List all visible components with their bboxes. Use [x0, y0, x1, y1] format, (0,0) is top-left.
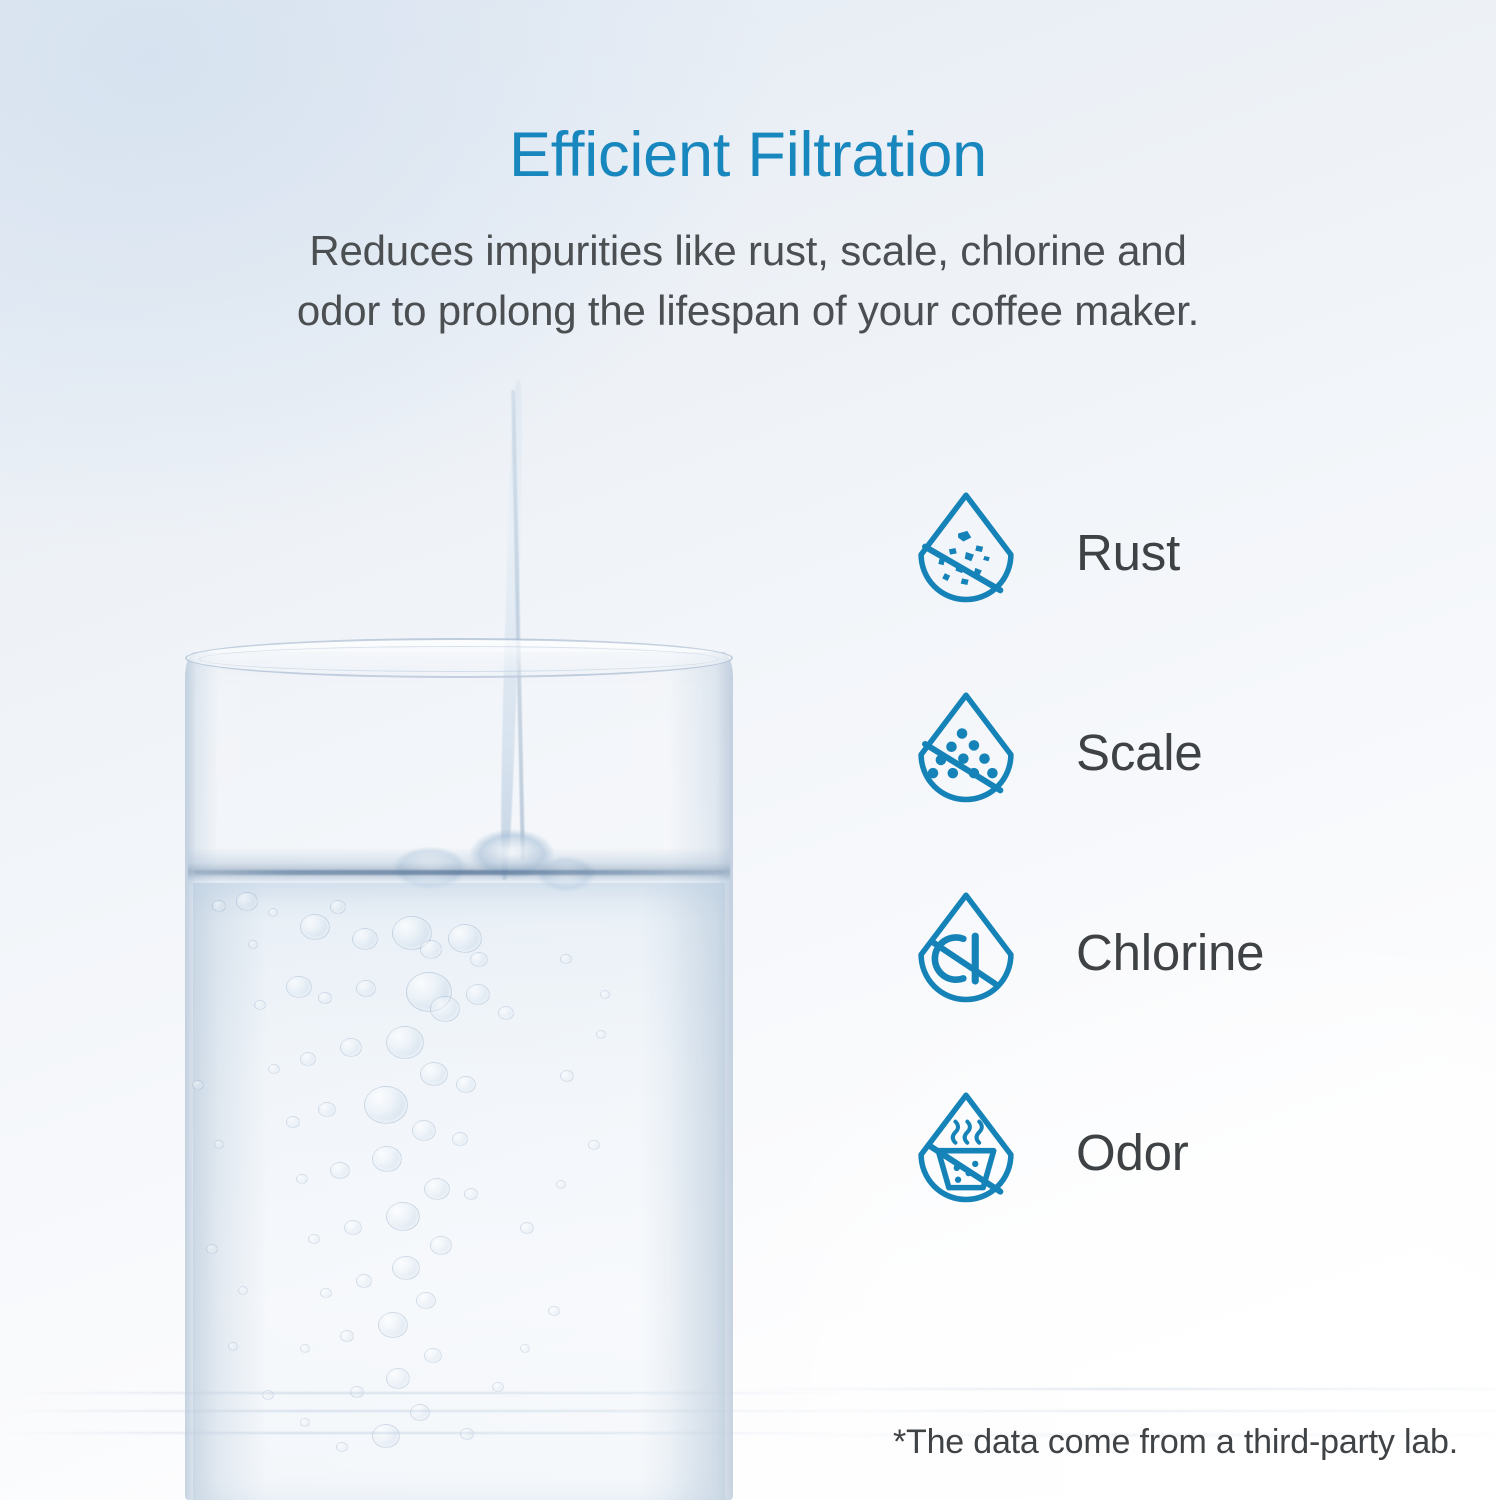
water-bubble [460, 1428, 474, 1440]
water-bubble [556, 1180, 566, 1189]
water-bubble [386, 1026, 424, 1059]
water-bubble [286, 1116, 300, 1128]
water-bubble [386, 1368, 410, 1389]
water-bubble [464, 1188, 478, 1200]
water-bubble [238, 1286, 248, 1295]
water-surface [188, 848, 730, 900]
water-bubble [254, 1000, 266, 1010]
water-bubble [410, 1404, 430, 1421]
surface-ripple [0, 1410, 850, 1412]
droplet-scale-icon [900, 686, 1032, 818]
droplet-rust-icon [900, 486, 1032, 618]
feature-item-scale[interactable]: Scale [900, 652, 1460, 852]
water-bubble [268, 908, 278, 917]
water-bubble [300, 1052, 316, 1066]
water-bubble [430, 996, 460, 1022]
water-bubble [212, 900, 226, 912]
water-bubble [318, 1102, 336, 1117]
water-bubble [372, 1146, 402, 1172]
feature-item-rust[interactable]: Rust [900, 452, 1460, 652]
water-bubble [600, 990, 610, 999]
subtitle-line-1: Reduces impurities like rust, scale, chl… [0, 221, 1496, 281]
water-bubble [520, 1222, 534, 1234]
water-bubble [344, 1220, 362, 1235]
water-bubble [248, 940, 258, 949]
water-bubble [412, 1120, 436, 1141]
product-feature-card: Efficient Filtration Reduces impurities … [0, 0, 1496, 1500]
water-bubble [452, 1132, 468, 1146]
water-bubble [192, 1080, 204, 1090]
water-bubble [318, 992, 332, 1004]
water-bubble [340, 1330, 354, 1342]
water-bubble [448, 924, 482, 953]
surface-ripple [740, 1388, 1496, 1390]
subtitle-line-2: odor to prolong the lifespan of your cof… [0, 281, 1496, 341]
water-bubble [424, 1178, 450, 1200]
feature-label: Scale [1076, 723, 1203, 782]
water-bubble [330, 1162, 350, 1179]
water-bubble [228, 1342, 238, 1351]
page-subtitle: Reduces impurities like rust, scale, chl… [0, 221, 1496, 340]
water-bubble [456, 1076, 476, 1093]
water-bubble [560, 1070, 574, 1082]
water-bubble [392, 1256, 420, 1280]
droplet-odor-icon [900, 1086, 1032, 1218]
feature-label: Chlorine [1076, 923, 1264, 982]
surface-ripple [0, 1392, 850, 1394]
water-bubble [340, 1038, 362, 1057]
water-bubble [356, 980, 376, 997]
droplet-chlorine-icon [900, 886, 1032, 1018]
footnote-disclaimer: *The data come from a third-party lab. [893, 1423, 1458, 1462]
water-bubble [336, 1442, 348, 1452]
water-bubble [206, 1244, 218, 1254]
water-fill [193, 883, 725, 1500]
water-bubble [420, 940, 442, 959]
water-bubble [520, 1344, 530, 1353]
water-bubble [492, 1382, 504, 1392]
surface-ripple [740, 1410, 1496, 1412]
header: Efficient Filtration Reduces impurities … [0, 0, 1496, 340]
water-bubble [352, 928, 378, 950]
surface-ripple [0, 1432, 850, 1434]
water-bubble [372, 1424, 400, 1448]
water-bubble [466, 984, 490, 1005]
water-bubble [356, 1274, 372, 1288]
glass-rim-inner [199, 646, 719, 672]
water-bubble [300, 914, 330, 940]
water-bubble [296, 1174, 308, 1184]
water-bubble [470, 952, 488, 967]
feature-item-chlorine[interactable]: Chlorine [900, 852, 1460, 1052]
water-bubble [214, 1140, 224, 1149]
water-bubble [416, 1292, 436, 1309]
water-bubble [560, 954, 572, 964]
water-bubble [386, 1202, 420, 1231]
water-bubble [300, 1344, 310, 1353]
water-bubble [330, 900, 346, 914]
water-bubble [268, 1064, 280, 1074]
water-bubble [596, 1030, 606, 1039]
feature-item-odor[interactable]: Odor [900, 1052, 1460, 1252]
water-bubble [320, 1288, 332, 1298]
water-bubble [300, 1418, 310, 1427]
page-title: Efficient Filtration [0, 124, 1496, 187]
water-glass-photo [0, 380, 850, 1500]
water-bubble [498, 1006, 514, 1020]
water-bubble [548, 1306, 560, 1316]
water-bubble [236, 892, 258, 911]
water-bubble [378, 1312, 408, 1338]
water-bubble [424, 1348, 442, 1363]
feature-label: Odor [1076, 1123, 1189, 1182]
water-bubble [308, 1234, 320, 1244]
water-bubble [430, 1236, 452, 1255]
water-bubble [364, 1086, 408, 1124]
water-bubble [420, 1062, 448, 1086]
feature-label: Rust [1076, 523, 1180, 582]
impurities-feature-list: Rust Scale [900, 452, 1460, 1252]
water-bubble [588, 1140, 600, 1150]
water-bubble [286, 976, 312, 998]
